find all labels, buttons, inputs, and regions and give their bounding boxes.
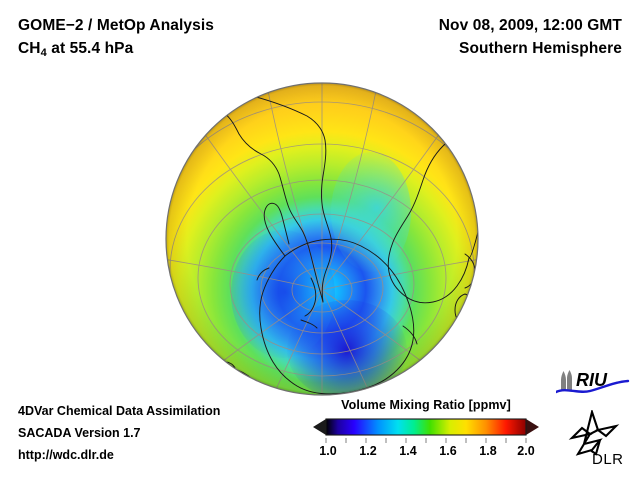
hemisphere-label: Southern Hemisphere: [439, 37, 622, 60]
header-right: Nov 08, 2009, 12:00 GMT Southern Hemisph…: [439, 14, 622, 60]
species-subscript: 4: [41, 47, 47, 59]
colorbar-tick-5: 2.0: [517, 444, 534, 458]
footer-credits: 4DVar Chemical Data Assimilation SACADA …: [18, 400, 220, 466]
dlr-wordmark: DLR: [592, 451, 624, 466]
species-pressure-title: CH4 at 55.4 hPa: [18, 37, 214, 62]
colorbar-title: Volume Mixing Ratio [ppmv]: [312, 398, 540, 412]
instrument-title: GOME−2 / MetOp Analysis: [18, 14, 214, 37]
colorbar-tick-4: 1.8: [479, 444, 496, 458]
method-label: 4DVar Chemical Data Assimilation: [18, 400, 220, 422]
dlr-logo-svg: DLR: [562, 410, 628, 466]
dlr-emblem-icon: [572, 412, 616, 454]
cathedral-towers-icon: [561, 370, 572, 390]
limb-shading: [166, 83, 478, 395]
colorbar-tick-0: 1.0: [319, 444, 336, 458]
colorbar-gradient: [326, 419, 526, 435]
colorbar-tick-2: 1.4: [399, 444, 416, 458]
species-label: CH: [18, 40, 41, 57]
version-label: SACADA Version 1.7: [18, 422, 220, 444]
riu-logo: RIU: [556, 370, 630, 400]
colorbar-tick-1: 1.2: [359, 444, 376, 458]
orthographic-projection-svg: [165, 82, 479, 396]
colorbar-tick-labels: 1.0 1.2 1.4 1.6 1.8 2.0: [312, 438, 540, 464]
riu-wordmark: RIU: [576, 370, 608, 390]
colorbar-tick-marks: [312, 438, 540, 444]
coastline-australia-southeast: [361, 395, 391, 396]
colorbar-strip: [312, 417, 540, 437]
colorbar-gradient-svg: [312, 417, 540, 437]
datetime-label: Nov 08, 2009, 12:00 GMT: [439, 14, 622, 37]
colorbar-arrow-low: [313, 419, 326, 435]
colorbar-tick-3: 1.6: [439, 444, 456, 458]
colorbar: Volume Mixing Ratio [ppmv]: [312, 398, 540, 464]
riu-logo-svg: RIU: [556, 370, 630, 400]
globe-map: [165, 82, 479, 396]
dlr-logo: DLR: [562, 410, 628, 466]
pressure-label: at 55.4 hPa: [47, 40, 134, 57]
header-left: GOME−2 / MetOp Analysis CH4 at 55.4 hPa: [18, 14, 214, 62]
visualization-page: GOME−2 / MetOp Analysis CH4 at 55.4 hPa …: [0, 0, 640, 480]
website-url[interactable]: http://wdc.dlr.de: [18, 444, 220, 466]
colorbar-arrow-high: [526, 419, 539, 435]
